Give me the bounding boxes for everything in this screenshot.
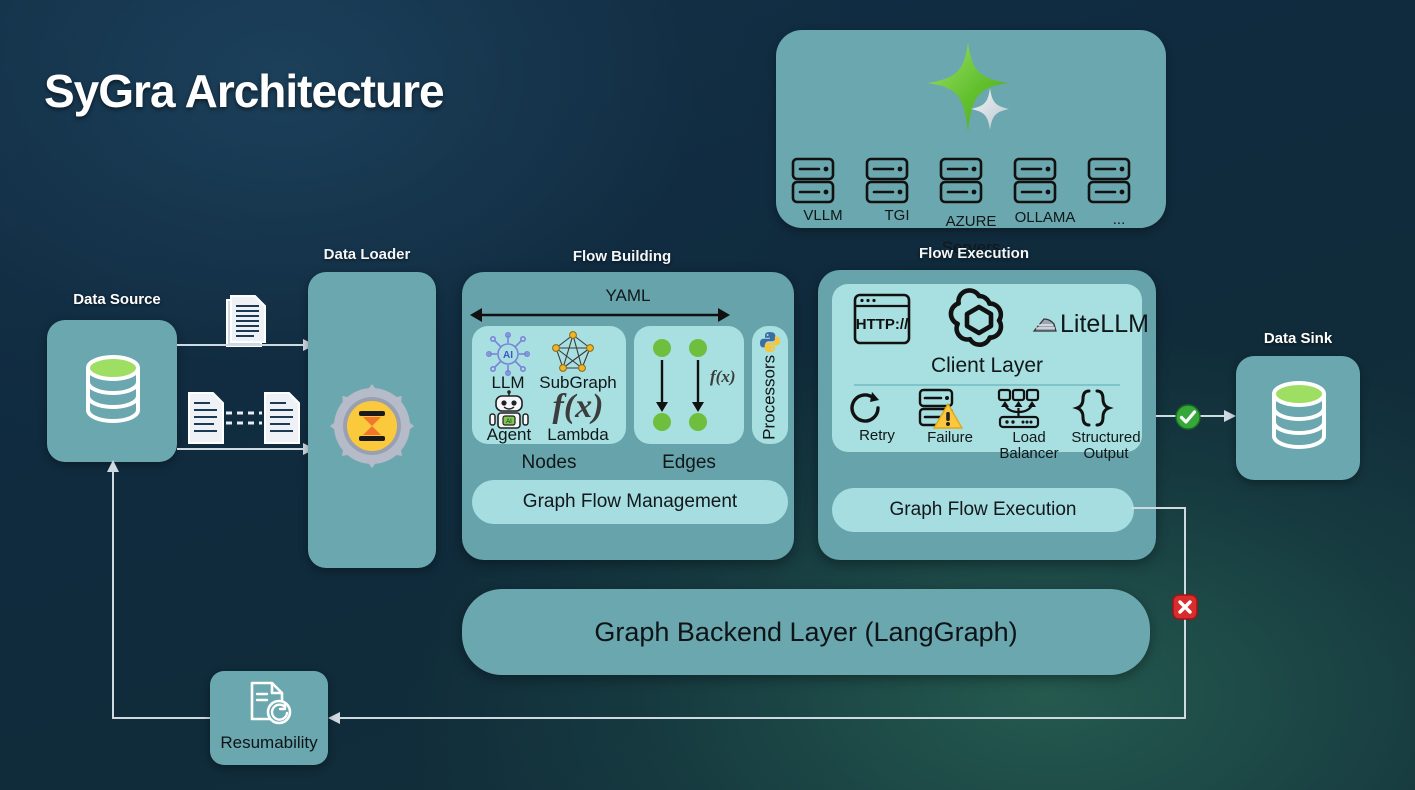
server-item[interactable]: ... xyxy=(1086,156,1152,229)
load-balancer-label: Load Balancer xyxy=(992,430,1066,462)
server-rack-icon xyxy=(1012,156,1058,206)
server-item[interactable]: TGI xyxy=(864,156,930,225)
server-rack-icon xyxy=(938,156,984,206)
data-source-box[interactable] xyxy=(47,320,177,462)
train-icon xyxy=(1032,316,1058,336)
server-rack-icon xyxy=(790,156,836,206)
flow-execution-panel[interactable]: HTTP:// xyxy=(818,270,1156,560)
server-rack-icon xyxy=(1086,156,1132,206)
feedback-line-horizontal xyxy=(330,717,1186,719)
load-balancer-item[interactable]: Load Balancer xyxy=(992,388,1066,462)
database-icon xyxy=(78,352,148,432)
refresh-circle-icon xyxy=(846,390,886,428)
retry-item[interactable]: Retry xyxy=(846,390,908,444)
curly-braces-icon xyxy=(1070,388,1116,430)
data-sink-box[interactable] xyxy=(1236,356,1360,480)
robot-icon: AI xyxy=(488,390,530,430)
gear-hourglass-icon xyxy=(326,380,418,472)
graph-flow-management-label: Graph Flow Management xyxy=(523,491,737,513)
nodes-box[interactable]: AI LLM xyxy=(472,326,626,444)
server-item[interactable]: VLLM xyxy=(790,156,856,225)
divider xyxy=(854,384,1120,386)
structured-output-label: Structured Output xyxy=(1070,430,1142,462)
server-label: VLLM xyxy=(790,208,856,225)
database-icon xyxy=(1264,378,1334,458)
network-graph-icon xyxy=(548,330,598,374)
failure-label: Failure xyxy=(914,430,986,446)
resumability-box[interactable]: Resumability xyxy=(210,671,328,765)
green-check-icon xyxy=(1175,404,1201,430)
server-warning-icon xyxy=(914,388,964,430)
server-label: TGI xyxy=(864,208,930,225)
retry-label: Retry xyxy=(846,428,908,444)
resumability-label: Resumability xyxy=(210,733,328,753)
openai-icon xyxy=(948,288,1010,350)
data-sink-label: Data Sink xyxy=(1205,330,1391,347)
graph-flow-management-bar[interactable]: Graph Flow Management xyxy=(472,480,788,524)
arrow-into-data-source xyxy=(106,458,120,474)
red-x-icon[interactable] xyxy=(1172,594,1198,620)
http-icon: HTTP:// xyxy=(852,292,912,346)
graph-flow-execution-bar[interactable]: Graph Flow Execution xyxy=(832,488,1134,532)
feedback-line-top-right xyxy=(1131,507,1186,509)
processors-label: Processors xyxy=(761,351,780,443)
processors-box[interactable]: Processors xyxy=(752,326,788,444)
node-agent-label: Agent xyxy=(476,426,542,445)
server-item[interactable]: OLLAMA xyxy=(1012,156,1078,227)
servers-panel[interactable]: VLLM TGI A xyxy=(776,30,1166,228)
litellm-label: LiteLLM xyxy=(1060,310,1149,339)
failure-item[interactable]: Failure xyxy=(914,388,986,446)
sparkle-icon xyxy=(916,36,1026,146)
ai-chip-icon: AI xyxy=(486,332,530,376)
data-loader-label: Data Loader xyxy=(282,246,452,263)
feedback-line-left-bottom xyxy=(112,717,212,719)
graph-backend-layer-label: Graph Backend Layer (LangGraph) xyxy=(594,617,1017,648)
flow-building-label: Flow Building xyxy=(537,248,707,265)
data-loader-box[interactable] xyxy=(308,272,436,568)
server-label: AZURE xyxy=(938,214,1004,231)
data-source-label: Data Source xyxy=(22,291,212,308)
server-rack-icon xyxy=(864,156,910,206)
client-layer-caption: Client Layer xyxy=(862,354,1112,378)
edges-caption: Edges xyxy=(634,452,744,474)
load-balancer-icon xyxy=(992,388,1046,430)
arrow-source-to-loader-bottom xyxy=(177,442,317,456)
feedback-line-left-vertical xyxy=(112,468,114,719)
page-title: SyGra Architecture xyxy=(44,64,444,118)
svg-text:HTTP://: HTTP:// xyxy=(856,316,909,333)
arrow-source-to-loader-top xyxy=(177,338,317,352)
structured-output-item[interactable]: Structured Output xyxy=(1070,388,1142,462)
edges-box[interactable]: f(x) xyxy=(634,326,744,444)
python-icon xyxy=(759,331,781,353)
diagram-canvas: SyGra Architecture xyxy=(0,0,1415,790)
svg-text:AI: AI xyxy=(503,350,513,361)
graph-flow-execution-label: Graph Flow Execution xyxy=(890,499,1077,521)
yaml-label: YAML xyxy=(462,286,794,306)
document-refresh-icon xyxy=(246,679,294,727)
server-label: OLLAMA xyxy=(1012,210,1078,227)
edges-graphic: f(x) xyxy=(644,338,736,434)
yaml-double-arrow xyxy=(470,307,730,323)
nodes-caption: Nodes xyxy=(472,452,626,474)
flow-building-panel[interactable]: YAML xyxy=(462,272,794,560)
server-item[interactable]: AZURE xyxy=(938,156,1004,231)
server-label: ... xyxy=(1086,212,1152,229)
fx-icon: f(x) xyxy=(548,388,608,426)
svg-text:f(x): f(x) xyxy=(710,367,735,386)
node-lambda-label: Lambda xyxy=(536,426,620,445)
client-layer-box[interactable]: HTTP:// xyxy=(832,284,1142,452)
arrow-into-resumability xyxy=(326,711,342,725)
document-pair-icon xyxy=(186,390,302,446)
flow-execution-label: Flow Execution xyxy=(889,245,1059,262)
graph-backend-layer-bar[interactable]: Graph Backend Layer (LangGraph) xyxy=(462,589,1150,675)
